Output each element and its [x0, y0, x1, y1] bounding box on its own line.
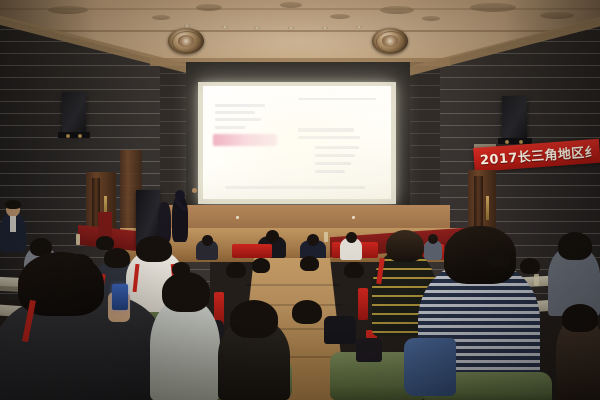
attendee-hair — [162, 272, 210, 312]
auditorium-photo: 2017长三角地区纟 — [0, 0, 600, 400]
aisle-step — [246, 284, 340, 286]
attendee-hair — [252, 258, 270, 273]
attendee-hair — [230, 300, 278, 338]
slide-text-line — [298, 128, 354, 132]
stage-marker — [236, 216, 239, 219]
attendee-hair — [226, 262, 246, 278]
attendee-head — [428, 234, 438, 244]
aisle-seat-end[interactable] — [358, 288, 368, 320]
attendee-hair — [488, 250, 510, 267]
slide-text-line — [315, 170, 345, 173]
attendee-hair — [136, 236, 172, 262]
speaker-knob — [66, 134, 70, 138]
slide-text-line — [215, 118, 261, 121]
attendee-hair — [520, 258, 540, 274]
attendee-hair — [172, 262, 190, 276]
slide-graphic — [213, 134, 277, 146]
speaker-bracket — [58, 132, 90, 138]
attendee-center — [150, 298, 220, 400]
slide-text-line — [225, 186, 365, 189]
slide-text-line — [215, 104, 265, 107]
projection-screen — [203, 86, 391, 199]
presenter-hand — [192, 188, 197, 193]
slide-text-line — [215, 111, 255, 114]
slide-text-line — [298, 98, 376, 100]
backpack[interactable] — [356, 338, 382, 362]
attendee-hair — [104, 248, 130, 268]
slide-text-line — [315, 162, 351, 165]
attendee-hair — [558, 232, 592, 260]
attendee-hair — [300, 256, 319, 271]
slide-text-line — [298, 136, 360, 139]
speaker-knob — [505, 140, 509, 144]
water-bottle[interactable] — [324, 232, 328, 242]
attendee-head — [346, 232, 357, 243]
smartphone[interactable] — [112, 284, 128, 310]
water-bottle[interactable] — [76, 234, 80, 245]
attendee-hair — [5, 200, 21, 209]
slide-text-line — [315, 146, 359, 149]
attendee-hair — [386, 230, 424, 262]
wall-speaker-right — [502, 96, 527, 140]
stage-marker — [352, 216, 355, 219]
speaker-knob — [78, 134, 82, 138]
attendee-head — [266, 230, 279, 243]
attendee-head — [202, 235, 213, 246]
blue-jacket — [404, 338, 456, 396]
backpack[interactable] — [324, 316, 356, 344]
water-bottle[interactable] — [534, 274, 539, 286]
door-handle[interactable] — [486, 196, 489, 220]
wall-speaker-left — [62, 92, 86, 134]
seat-row-front[interactable] — [232, 244, 272, 258]
attendee-hair — [96, 236, 114, 250]
attendee-hair — [562, 304, 598, 332]
slide-text-line — [215, 126, 245, 129]
slide-text-line — [315, 154, 355, 157]
attendee-hair — [344, 262, 364, 278]
shirt-collar — [10, 216, 16, 232]
attendee-hair — [292, 300, 322, 324]
attendee-head — [307, 234, 319, 246]
